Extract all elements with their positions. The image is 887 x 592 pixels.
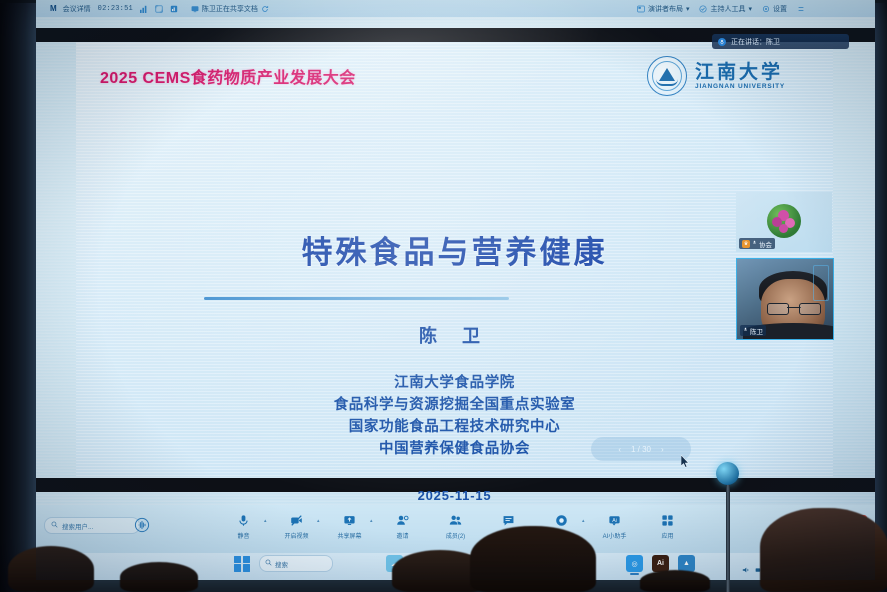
audience-head bbox=[470, 526, 596, 592]
affiliation-line: 中国营养保健食品协会 bbox=[76, 438, 833, 460]
microphone-icon bbox=[716, 462, 739, 485]
affiliation-line: 江南大学食品学院 bbox=[76, 372, 833, 394]
host-tools-button[interactable]: 主持人工具 ▾ bbox=[699, 4, 752, 14]
video-label: 陈卫 bbox=[740, 325, 766, 336]
app-logo-icon: M bbox=[50, 4, 56, 13]
shared-slide[interactable]: 2025 CEMS食药物质产业发展大会 江南大学 JIANGNAN UNIVER… bbox=[76, 42, 833, 476]
tencent-meeting-icon[interactable]: ◎ bbox=[626, 555, 643, 572]
volume-icon[interactable] bbox=[742, 561, 750, 579]
toolbar-button-label: 成员(2) bbox=[446, 531, 465, 540]
chat-icon bbox=[501, 513, 516, 528]
active-speaker-label: 正在讲话：陈卫 bbox=[731, 37, 780, 47]
meeting-timer: 02:23:51 bbox=[98, 5, 133, 13]
conference-title: 2025 CEMS食药物质产业发展大会 bbox=[100, 64, 356, 88]
toolbar-buttons: 静音 ▴ 开启视频 ▴ 共享屏幕 ▴ bbox=[36, 513, 875, 540]
slide-page-control[interactable]: ‹ 1 / 30 › bbox=[591, 437, 691, 461]
video-tile-speaker[interactable]: 陈卫 bbox=[736, 258, 834, 340]
projected-desktop: M 会议详情 02:23:51 陈卫正在共享文 bbox=[36, 0, 875, 580]
toolbar-button-label: 共享屏幕 bbox=[337, 531, 361, 540]
refresh-icon[interactable] bbox=[261, 5, 269, 13]
microphone-icon bbox=[236, 513, 251, 528]
chevron-right-icon[interactable]: › bbox=[661, 445, 664, 454]
audience-head bbox=[120, 562, 198, 592]
invite-icon bbox=[395, 513, 410, 528]
chevron-up-icon[interactable]: ▴ bbox=[264, 518, 267, 524]
participant-name: 协会 bbox=[759, 239, 772, 249]
university-name-cn: 江南大学 bbox=[695, 63, 785, 82]
speaker-layout-button[interactable]: 演讲者布局 ▾ bbox=[637, 4, 690, 14]
projection-room-scene: M 会议详情 02:23:51 陈卫正在共享文 bbox=[0, 0, 887, 592]
video-tile-association[interactable]: ♛ 协会 bbox=[736, 192, 832, 252]
avatar bbox=[767, 204, 801, 238]
toolbar-button-label: 应用 bbox=[661, 531, 673, 540]
ai-icon: Ai bbox=[607, 513, 622, 528]
meeting-info-button[interactable]: 会议详情 bbox=[63, 4, 91, 14]
windows-start-icon[interactable] bbox=[234, 556, 250, 572]
audience-head bbox=[760, 508, 887, 592]
toolbar-button-label: 静音 bbox=[237, 531, 249, 540]
mic-small-icon bbox=[743, 327, 748, 334]
screen-share-icon bbox=[342, 513, 357, 528]
slide-affiliations: 江南大学食品学院 食品科学与资源挖掘全国重点实验室 国家功能食品工程技术研究中心… bbox=[76, 372, 833, 460]
gear-icon bbox=[762, 5, 770, 13]
title-underline bbox=[204, 297, 509, 300]
taskbar-search-label: 搜索 bbox=[275, 559, 288, 569]
toolbar-video-button[interactable]: 开启视频 ▴ bbox=[280, 513, 314, 540]
audience-head bbox=[8, 546, 94, 592]
meeting-topbar: M 会议详情 02:23:51 陈卫正在共享文 bbox=[36, 0, 875, 17]
toolbar-button-label: 邀请 bbox=[396, 531, 408, 540]
jiangnan-university-emblem-icon bbox=[647, 56, 687, 96]
toolbar-ai-button[interactable]: Ai AI小助手 bbox=[598, 513, 632, 540]
search-icon bbox=[265, 559, 272, 568]
active-speaker-indicator: 正在讲话：陈卫 bbox=[712, 34, 849, 49]
apps-grid-icon bbox=[660, 513, 675, 528]
shield-check-icon bbox=[699, 5, 707, 13]
toolbar-button-label: 开启视频 bbox=[284, 531, 308, 540]
toolbar-share-button[interactable]: 共享屏幕 ▴ bbox=[333, 513, 367, 540]
toolbar-members-button[interactable]: 成员(2) bbox=[439, 513, 473, 540]
room-wall-right bbox=[875, 0, 887, 592]
microphone-stand bbox=[716, 462, 739, 592]
chart-icon[interactable] bbox=[170, 5, 178, 13]
microphone-icon bbox=[718, 38, 726, 46]
room-wall-left bbox=[0, 0, 36, 592]
slide-speaker-name: 陈 卫 bbox=[76, 322, 833, 348]
chevron-down-icon: ▾ bbox=[748, 5, 752, 13]
sharing-status: 陈卫正在共享文档 bbox=[191, 4, 269, 14]
monitor-icon bbox=[191, 5, 199, 13]
toolbar-apps-button[interactable]: 应用 bbox=[651, 513, 685, 540]
host-crown-icon: ♛ bbox=[742, 240, 750, 248]
mouse-cursor bbox=[681, 455, 690, 468]
room-frame-decor bbox=[813, 265, 829, 301]
affiliation-line: 国家功能食品工程技术研究中心 bbox=[76, 416, 833, 438]
layout-icon bbox=[637, 5, 645, 13]
stand-pole bbox=[726, 485, 730, 592]
meeting-info-label: 会议详情 bbox=[63, 4, 91, 14]
record-icon bbox=[554, 513, 569, 528]
chevron-left-icon[interactable]: ‹ bbox=[618, 445, 621, 454]
mic-small-icon bbox=[752, 240, 757, 247]
chevron-up-icon[interactable]: ▴ bbox=[370, 518, 373, 524]
toolbar-invite-button[interactable]: 邀请 bbox=[386, 513, 420, 540]
toolbar-mute-button[interactable]: 静音 ▴ bbox=[227, 513, 261, 540]
toolbar-button-label: AI小助手 bbox=[603, 531, 627, 540]
sharing-status-label: 陈卫正在共享文档 bbox=[202, 4, 258, 14]
slide-main-title: 特殊食品与营养健康 bbox=[76, 227, 833, 272]
chevron-up-icon[interactable]: ▴ bbox=[317, 518, 320, 524]
expand-icon[interactable] bbox=[155, 5, 163, 13]
video-label: ♛ 协会 bbox=[739, 238, 775, 249]
svg-text:Ai: Ai bbox=[612, 518, 617, 524]
affiliation-line: 食品科学与资源挖掘全国重点实验室 bbox=[76, 394, 833, 416]
members-icon bbox=[448, 513, 463, 528]
host-tools-label: 主持人工具 bbox=[710, 4, 745, 14]
university-logo: 江南大学 JIANGNAN UNIVERSITY bbox=[647, 56, 785, 96]
speaker-layout-label: 演讲者布局 bbox=[648, 4, 683, 14]
audience-head bbox=[640, 570, 710, 592]
settings-label: 设置 bbox=[773, 4, 787, 14]
page-indicator: 1 / 30 bbox=[631, 445, 651, 454]
taskbar-search-input[interactable]: 搜索 bbox=[259, 555, 333, 572]
settings-button[interactable]: 设置 bbox=[762, 4, 787, 14]
video-off-icon bbox=[289, 513, 304, 528]
participant-name: 陈卫 bbox=[750, 326, 763, 336]
more-icon[interactable] bbox=[797, 5, 805, 13]
university-name-en: JIANGNAN UNIVERSITY bbox=[695, 83, 785, 90]
meeting-bottom-toolbar: 搜索用户... 静音 ▴ 开启视频 ▴ bbox=[36, 505, 875, 553]
glasses-icon bbox=[767, 303, 821, 313]
signal-bars-icon[interactable] bbox=[140, 5, 148, 13]
chevron-up-icon[interactable]: ▴ bbox=[582, 518, 585, 524]
chevron-down-icon: ▾ bbox=[686, 5, 690, 13]
